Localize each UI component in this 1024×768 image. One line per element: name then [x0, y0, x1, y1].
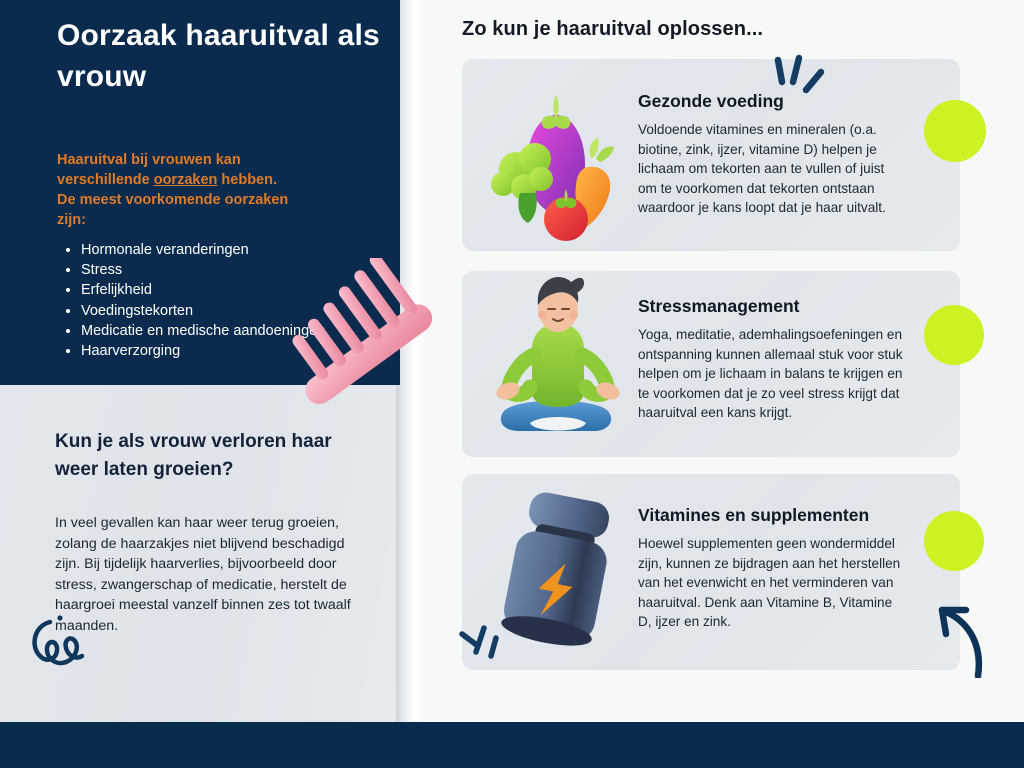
- solution-card-stressmanagement[interactable]: Stressmanagement Yoga, meditatie, ademha…: [462, 271, 960, 457]
- solutions-heading: Zo kun je haaruitval oplossen...: [462, 18, 763, 41]
- sparkle-doodle-icon: [458, 622, 506, 666]
- vegetables-illustration: [472, 59, 644, 251]
- solution-card-gezonde-voeding[interactable]: Gezonde voeding Voldoende vitamines en m…: [462, 59, 960, 251]
- regrowth-answer-text: In veel gevallen kan haar weer terug gro…: [55, 513, 355, 636]
- card-title: Stressmanagement: [638, 271, 946, 317]
- curved-arrow-doodle-icon: [916, 592, 986, 678]
- solution-card-vitamines-en-supplementen[interactable]: Vitamines en supplementen Hoewel supplem…: [462, 474, 960, 670]
- pink-comb-icon: [262, 258, 452, 418]
- meditating-person-illustration: [472, 271, 644, 457]
- card-text: Voldoende vitamines en mineralen (o.a. b…: [638, 120, 906, 218]
- oorzaken-link[interactable]: oorzaken: [154, 172, 218, 188]
- lime-accent-circle: [924, 511, 984, 571]
- sparkle-doodle-icon: [766, 52, 826, 108]
- card-text: Hoewel supplementen geen wondermiddel zi…: [638, 534, 906, 632]
- regrowth-question-title: Kun je als vrouw verloren haar weer late…: [55, 428, 375, 484]
- lime-accent-circle: [924, 100, 986, 162]
- page-title: Oorzaak haaruitval als vrouw: [57, 15, 387, 97]
- lime-accent-circle: [924, 305, 984, 365]
- curl-doodle-icon: [24, 612, 98, 680]
- causes-intro-text: Haaruitval bij vrouwen kan verschillende…: [57, 150, 292, 230]
- card-text: Yoga, meditatie, ademhalingsoefeningen e…: [638, 325, 906, 423]
- footer-bar: [0, 722, 1024, 768]
- card-title: Vitamines en supplementen: [638, 474, 946, 526]
